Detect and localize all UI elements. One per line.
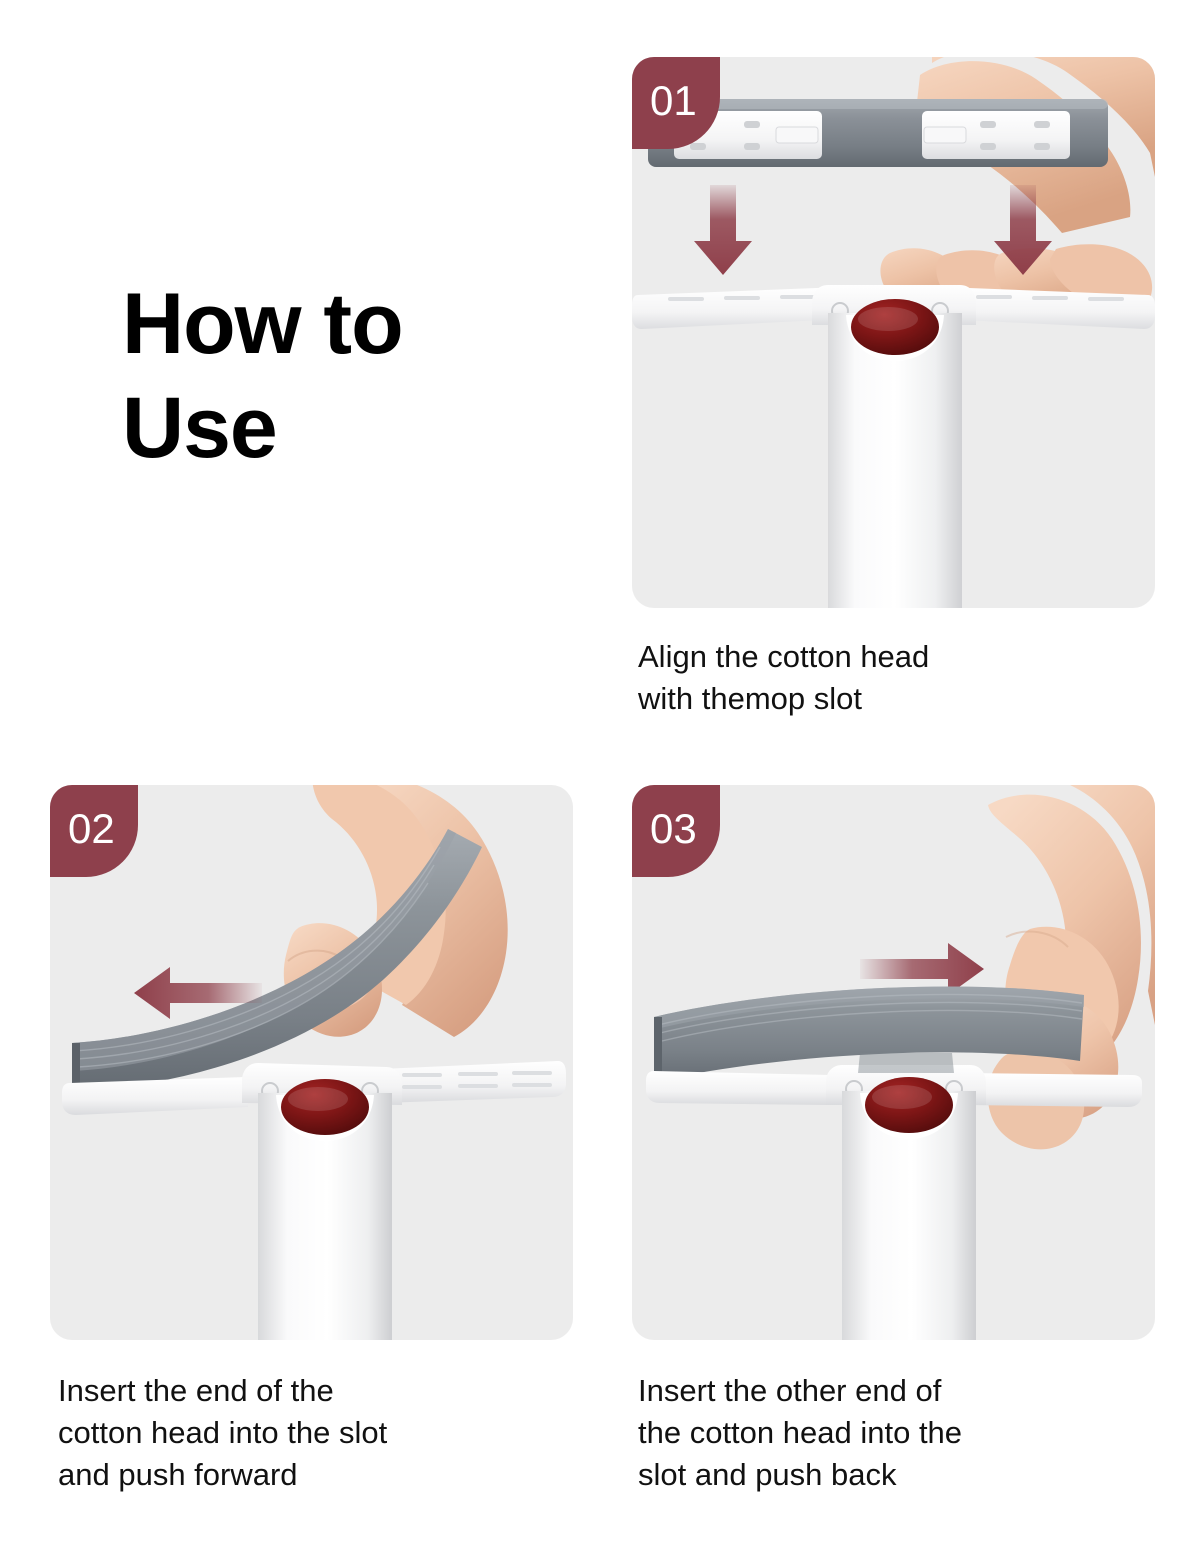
step-02-illustration	[50, 785, 573, 1340]
mop-head	[62, 1061, 566, 1340]
step-02-artwork	[50, 785, 573, 1340]
step-caption-01: Align the cotton head with themop slot	[638, 636, 1108, 720]
arrow-down-left	[694, 185, 752, 275]
step-panel-01: 01	[632, 57, 1155, 608]
mop-head	[646, 1053, 1142, 1340]
step-caption-02: Insert the end of the cotton head into t…	[58, 1370, 558, 1496]
step-03-illustration	[632, 785, 1155, 1340]
step-panel-03: 03	[632, 785, 1155, 1340]
page-title-line-2: Use	[122, 376, 592, 480]
page-title: How to Use	[122, 272, 592, 480]
step-03-artwork	[632, 785, 1155, 1340]
step-01-artwork	[632, 57, 1155, 608]
page-title-line-1: How to	[122, 272, 592, 376]
step-number-02: 02	[68, 806, 115, 852]
step-caption-03: Insert the other end of the cotton head …	[638, 1370, 1148, 1496]
mop-head	[632, 285, 1155, 608]
step-number-01: 01	[650, 78, 697, 124]
step-01-illustration	[632, 57, 1155, 608]
step-number-03: 03	[650, 806, 697, 852]
step-panel-02: 02	[50, 785, 573, 1340]
